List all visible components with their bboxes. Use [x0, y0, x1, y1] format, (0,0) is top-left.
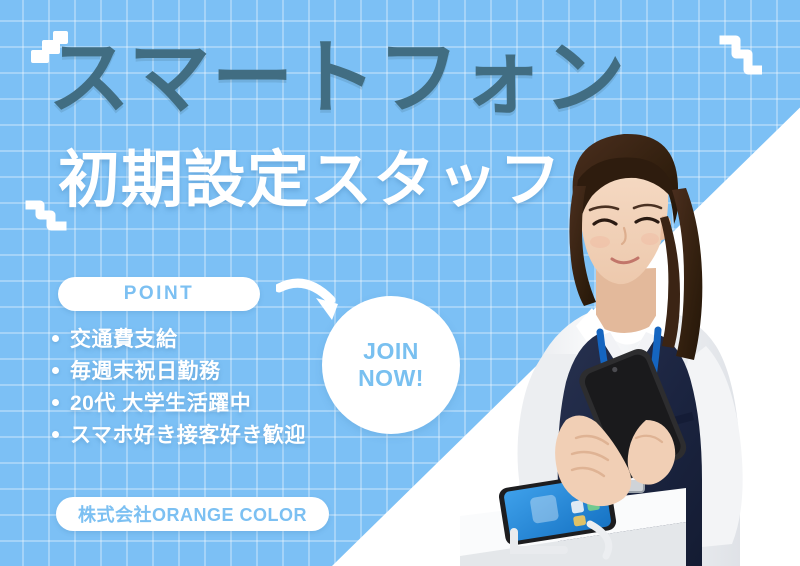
- job-ad-poster: スマートフォン 初期設定スタッフ POINT 交通費支給 毎週末祝日勤務 20代…: [0, 0, 800, 566]
- list-item: 交通費支給: [52, 322, 306, 354]
- list-item-label: 20代 大学生活躍中: [70, 387, 251, 417]
- list-item: スマホ好き接客好き歓迎: [52, 418, 306, 450]
- join-now-line-1: JOIN: [363, 338, 419, 365]
- join-now-badge[interactable]: JOIN NOW!: [322, 296, 460, 434]
- list-item: 20代 大学生活躍中: [52, 386, 306, 418]
- list-item-label: スマホ好き接客好き歓迎: [70, 419, 306, 449]
- company-name: 株式会社ORANGE COLOR: [78, 501, 307, 527]
- point-badge: POINT: [58, 277, 260, 311]
- list-item-label: 毎週末祝日勤務: [70, 355, 221, 385]
- zigzag-icon-top-right: [718, 32, 762, 80]
- list-item-label: 交通費支給: [70, 323, 178, 353]
- bullet-dot-icon: [52, 367, 59, 374]
- join-now-line-2: NOW!: [358, 365, 424, 392]
- heading-line-1: スマートフォン: [48, 38, 627, 120]
- list-item: 毎週末祝日勤務: [52, 354, 306, 386]
- point-list: 交通費支給 毎週末祝日勤務 20代 大学生活躍中 スマホ好き接客好き歓迎: [52, 322, 306, 450]
- bullet-dot-icon: [52, 399, 59, 406]
- bullet-dot-icon: [52, 431, 59, 438]
- bullet-dot-icon: [52, 335, 59, 342]
- company-badge: 株式会社ORANGE COLOR: [56, 497, 329, 531]
- point-badge-label: POINT: [124, 283, 195, 305]
- heading-line-2: 初期設定スタッフ: [58, 150, 562, 212]
